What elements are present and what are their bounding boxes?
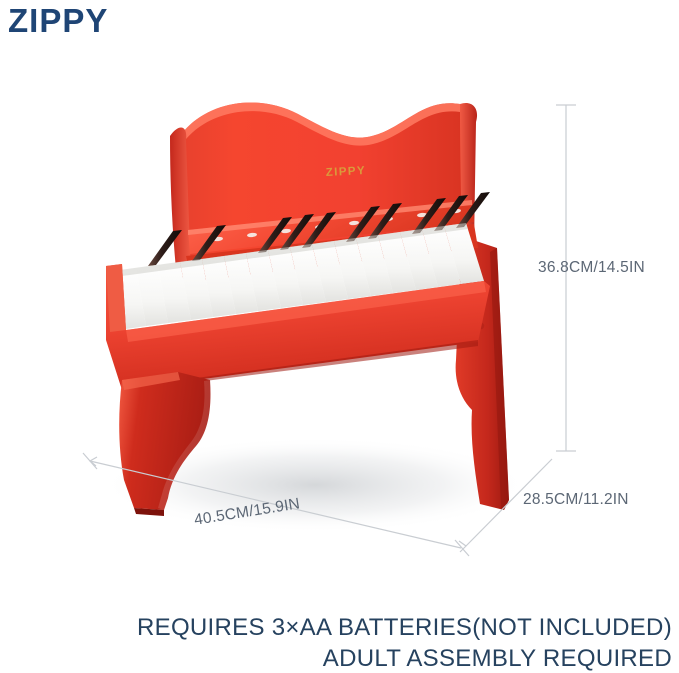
brand-logo: ZIPPY <box>8 4 108 37</box>
product-illustration: ZIPPY <box>60 80 560 560</box>
body-logo: ZIPPY <box>326 165 367 179</box>
height-dimension-label: 36.8CM/14.5IN <box>538 259 645 277</box>
product-image-canvas: ZIPPY <box>0 0 679 673</box>
assembly-requirement-text: ADULT ASSEMBLY REQUIRED <box>323 645 672 673</box>
depth-dimension-label: 28.5CM/11.2IN <box>523 491 629 509</box>
battery-requirement-text: REQUIRES 3×AA BATTERIES(NOT INCLUDED) <box>137 614 672 642</box>
